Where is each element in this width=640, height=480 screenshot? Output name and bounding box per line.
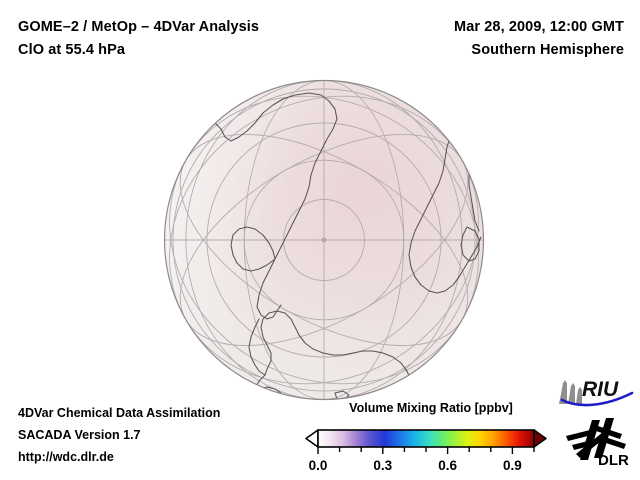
- riu-logo-svg: RIU: [556, 374, 636, 408]
- riu-wordmark: RIU: [582, 378, 619, 401]
- header-right-block: Mar 28, 2009, 12:00 GMT Southern Hemisph…: [364, 16, 624, 62]
- colorbar-extend-right-arrow: [534, 430, 546, 447]
- colorbar-extend-left-arrow: [306, 430, 318, 447]
- hemisphere-label: Southern Hemisphere: [364, 39, 624, 62]
- colorbar-title: Volume Mixing Ratio [ppbv]: [308, 400, 554, 416]
- colorbar-tick-label-0: 0.0: [309, 458, 328, 473]
- footer-line-assimilation: 4DVar Chemical Data Assimilation: [18, 402, 298, 424]
- colorbar-gradient: [318, 430, 534, 447]
- footer-line-url[interactable]: http://wdc.dlr.de: [18, 446, 298, 468]
- orthographic-projection-svg: [163, 79, 485, 401]
- dlr-logo: DLR: [562, 414, 636, 468]
- page-subtitle-species-level: ClO at 55.4 hPa: [18, 39, 378, 62]
- colorbar-svg: 0.0 0.3 0.6 0.9: [300, 419, 552, 479]
- footer-line-version: SACADA Version 1.7: [18, 424, 298, 446]
- colorbar-block: Volume Mixing Ratio [ppbv]: [300, 400, 560, 479]
- page-title: GOME–2 / MetOp – 4DVar Analysis: [18, 16, 378, 39]
- footer-credits-block: 4DVar Chemical Data Assimilation SACADA …: [18, 402, 298, 468]
- dlr-wordmark: DLR: [598, 452, 629, 468]
- colorbar-tick-labels: 0.0 0.3 0.6 0.9: [309, 458, 522, 473]
- header-left-block: GOME–2 / MetOp – 4DVar Analysis ClO at 5…: [18, 16, 378, 62]
- timestamp-label: Mar 28, 2009, 12:00 GMT: [364, 16, 624, 39]
- colorbar-tick-label-2: 0.6: [438, 458, 457, 473]
- colorbar-tick-label-3: 0.9: [503, 458, 522, 473]
- colorbar-tick-label-1: 0.3: [373, 458, 392, 473]
- globe-map: [163, 79, 485, 401]
- dlr-logo-svg: DLR: [562, 414, 636, 468]
- riu-logo: RIU: [556, 374, 636, 408]
- colorbar-ticks: [318, 447, 534, 454]
